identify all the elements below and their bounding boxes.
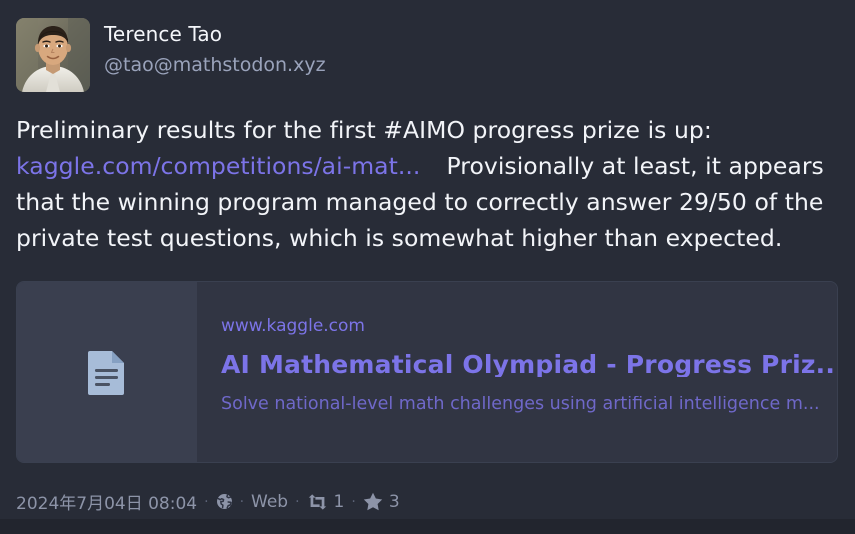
card-title: AI Mathematical Olympiad - Progress Priz…: [221, 352, 837, 377]
external-link[interactable]: kaggle.com/competitions/ai-mat...: [16, 152, 420, 180]
separator-dot: ·: [240, 494, 244, 510]
star-icon[interactable]: [363, 492, 383, 511]
visibility-label: Web: [251, 492, 288, 512]
status-content: Preliminary results for the first #AIMO …: [16, 112, 842, 256]
content-segment-1: Preliminary results for the first: [16, 116, 383, 144]
link-preview-card[interactable]: www.kaggle.com AI Mathematical Olympiad …: [16, 281, 838, 463]
separator-dot: ·: [295, 494, 299, 510]
separator-dot: ·: [351, 494, 355, 510]
display-name[interactable]: Terence Tao: [104, 24, 326, 44]
status-post: Terence Tao @tao@mathstodon.xyz Prelimin…: [0, 0, 855, 534]
card-description: Solve national-level math challenges usi…: [221, 396, 837, 414]
card-thumbnail: [17, 282, 197, 462]
avatar[interactable]: [16, 18, 90, 92]
boost-count: 1: [334, 492, 345, 512]
card-body: www.kaggle.com AI Mathematical Olympiad …: [197, 282, 837, 462]
boost-icon[interactable]: [307, 494, 328, 510]
content-segment-2: progress prize is up:: [465, 116, 712, 144]
status-footer: 2024年7月04日 08:04 · · Web · 1 · 3: [16, 489, 400, 514]
document-icon: [87, 349, 127, 395]
account-handle[interactable]: @tao@mathstodon.xyz: [104, 56, 326, 75]
card-host: www.kaggle.com: [221, 318, 837, 335]
favourite-count: 3: [389, 492, 400, 512]
timestamp[interactable]: 2024年7月04日 08:04: [16, 489, 197, 514]
hashtag-link[interactable]: #AIMO: [383, 116, 465, 144]
avatar-photo: [16, 18, 90, 92]
globe-icon: [216, 493, 233, 510]
author-block: Terence Tao @tao@mathstodon.xyz: [104, 18, 326, 75]
bottom-strip: [0, 519, 855, 534]
separator-dot: ·: [204, 494, 208, 510]
status-header: Terence Tao @tao@mathstodon.xyz: [16, 18, 326, 92]
